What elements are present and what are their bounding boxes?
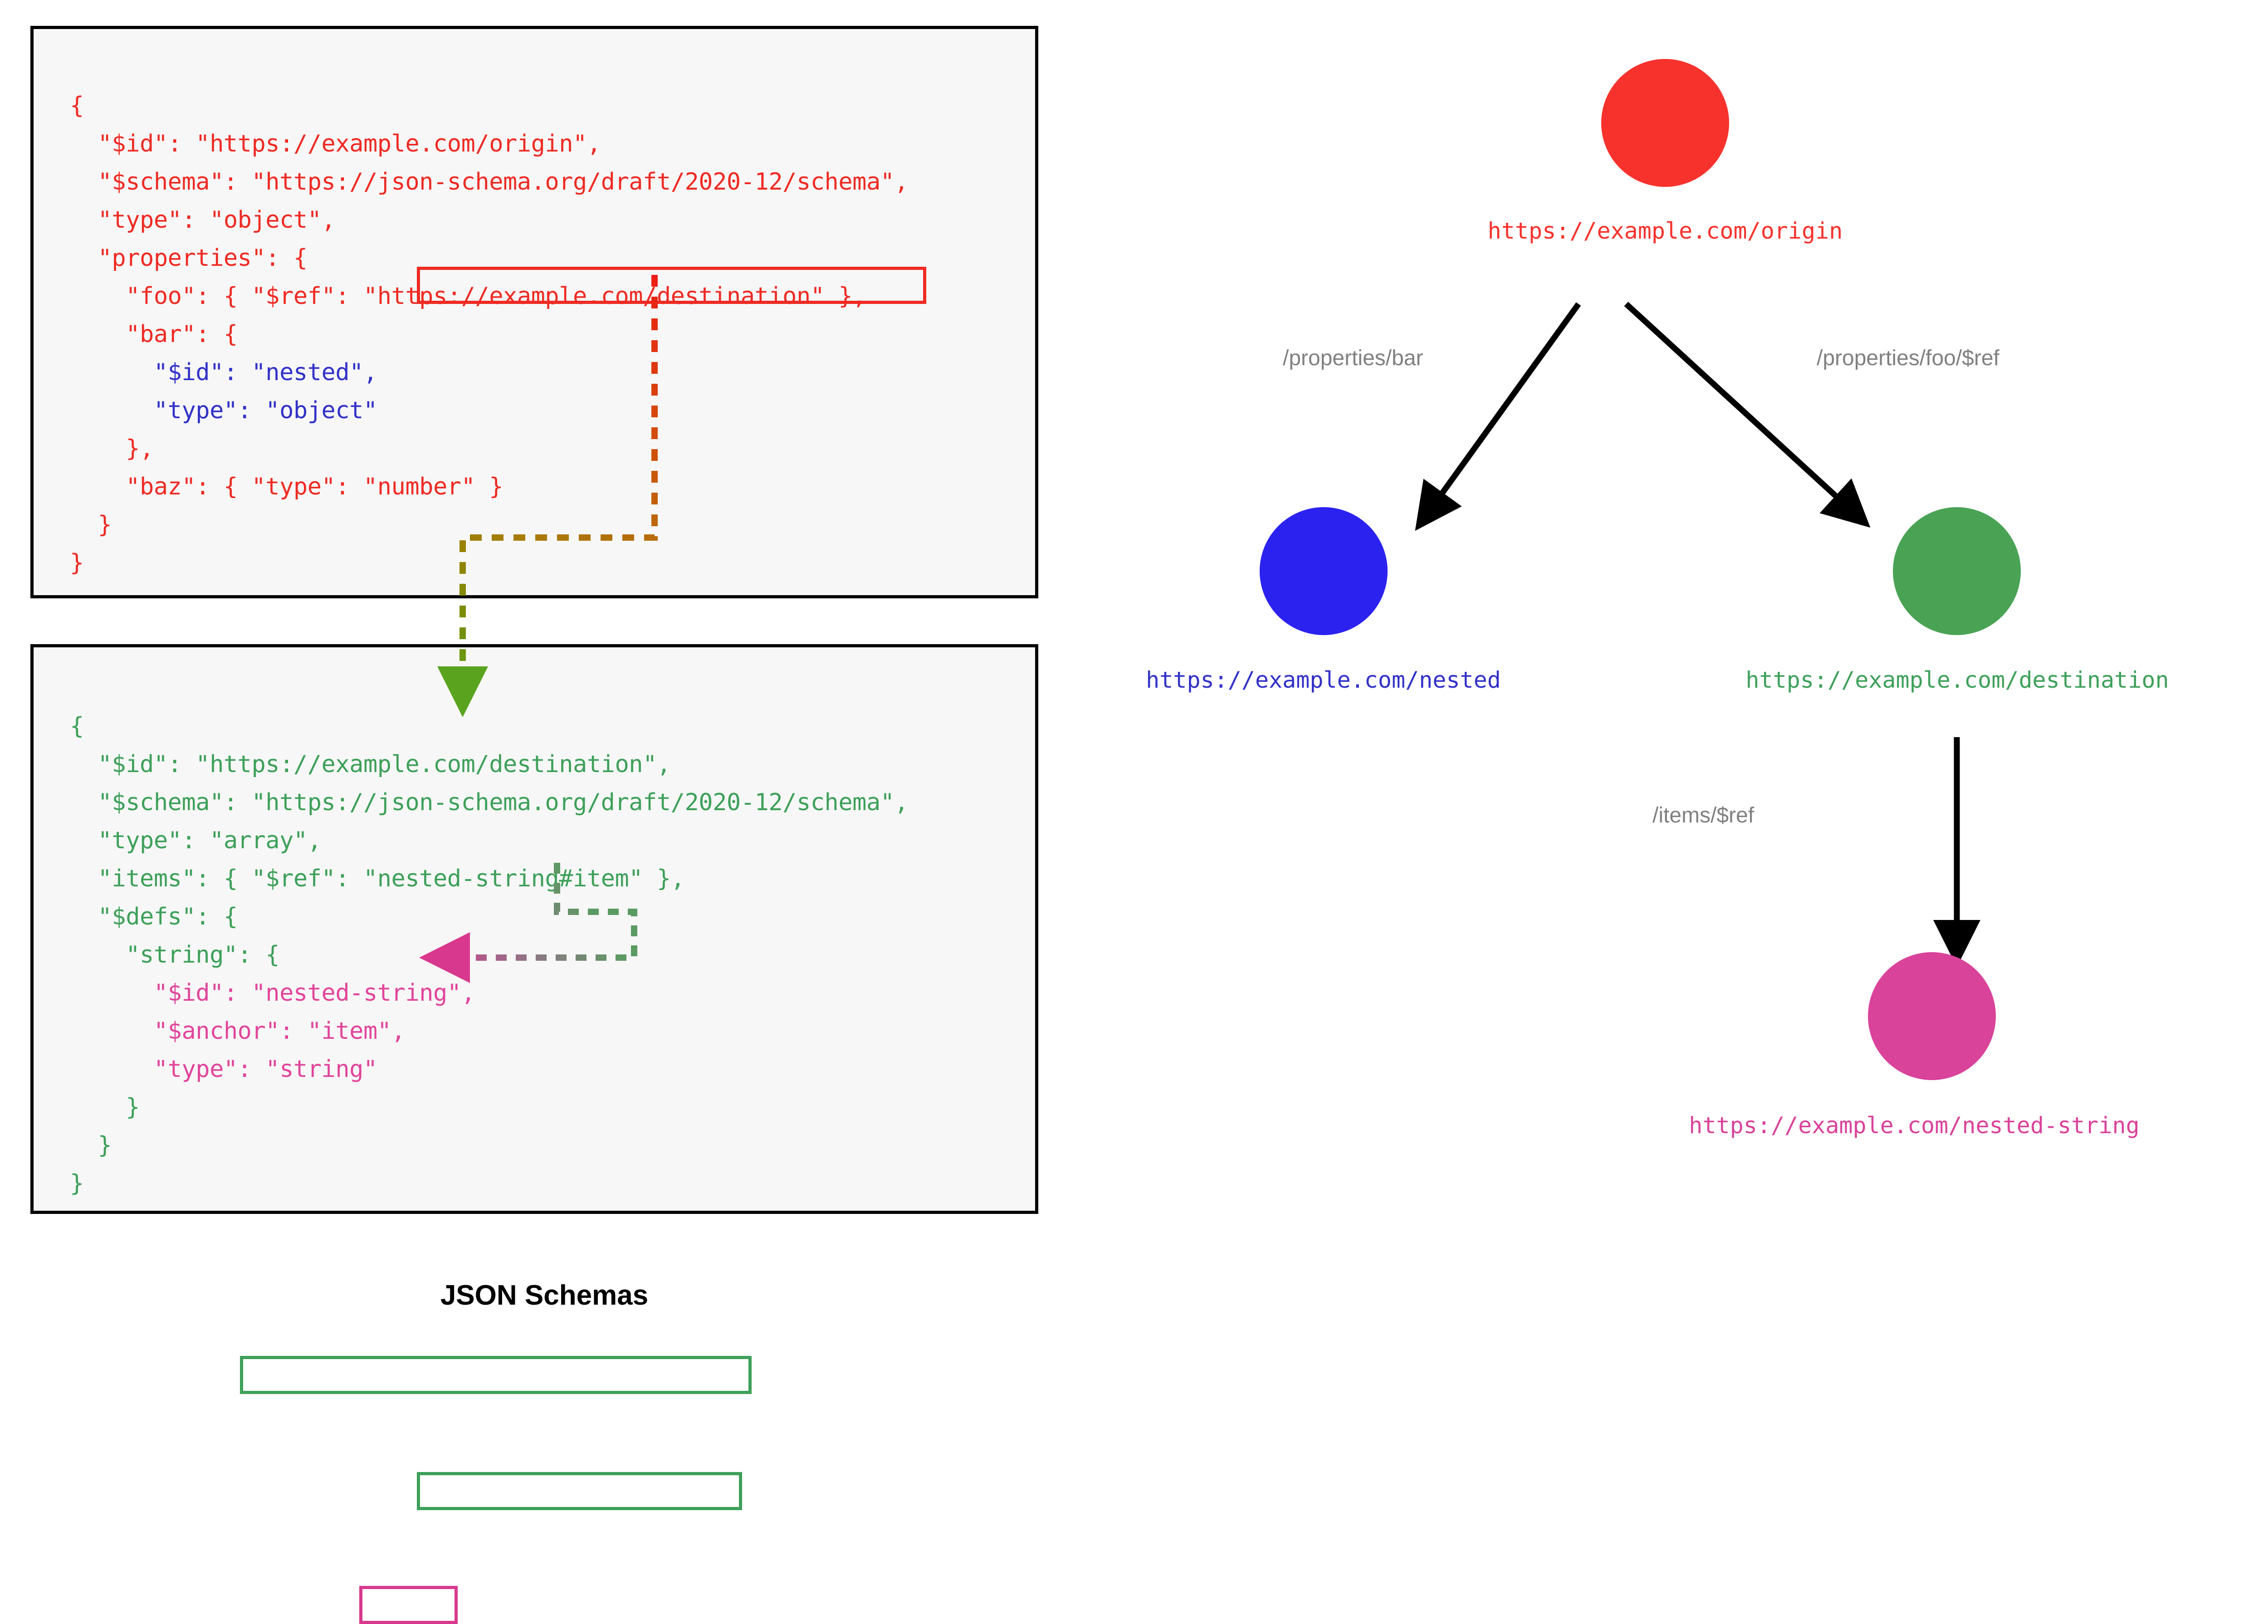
- highlight-id-destination: [240, 1356, 752, 1394]
- directed-graph-panel: https://example.com/origin https://examp…: [1089, 0, 2268, 1364]
- graph-edge-label-properties-foo-ref: /properties/foo/$ref: [1817, 346, 1999, 371]
- highlight-anchor-item: [359, 1586, 458, 1624]
- origin-schema-box: { "$id": "https://example.com/origin", "…: [30, 26, 1038, 598]
- graph-node-label-nested: https://example.com/nested: [1102, 667, 1545, 693]
- graph-edge-label-properties-bar: /properties/bar: [1283, 346, 1423, 371]
- origin-schema-code: { "$id": "https://example.com/origin", "…: [70, 87, 908, 582]
- graph-node-label-destination: https://example.com/destination: [1683, 667, 2232, 693]
- graph-node-nested-string[interactable]: [1868, 952, 1996, 1080]
- highlight-ref-nested-string: [417, 1472, 742, 1510]
- left-panel-caption: JSON Schemas: [0, 1279, 1089, 1311]
- destination-schema-box: { "$id": "https://example.com/destinatio…: [30, 644, 1038, 1214]
- right-panel-caption: Directed Graph Representation: [2177, 1279, 2268, 1311]
- graph-node-label-origin: https://example.com/origin: [1432, 218, 1899, 244]
- json-schemas-panel: { "$id": "https://example.com/origin", "…: [0, 0, 1089, 1364]
- graph-node-label-nested-string: https://example.com/nested-string: [1617, 1112, 2211, 1139]
- graph-node-nested[interactable]: [1260, 507, 1388, 635]
- graph-edge-label-items-ref: /items/$ref: [1652, 803, 1754, 828]
- graph-node-origin[interactable]: [1601, 59, 1729, 187]
- destination-schema-code: { "$id": "https://example.com/destinatio…: [70, 707, 908, 1203]
- graph-node-destination[interactable]: [1893, 507, 2021, 635]
